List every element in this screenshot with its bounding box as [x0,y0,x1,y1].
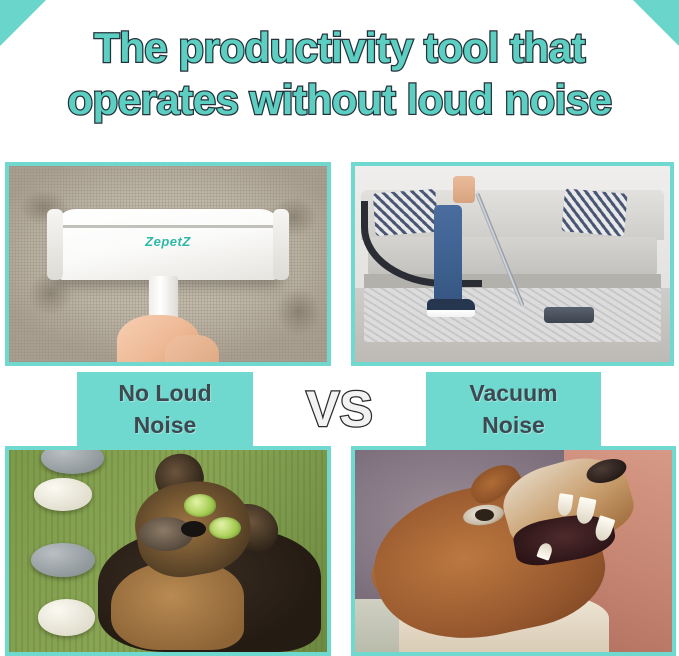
hand-finger [165,335,219,366]
photo-top-left-roller: ZepetZ [5,162,331,366]
roller-end-cap-right [273,209,289,280]
label-block-vacuum-noise: Vacuum Noise [426,372,601,446]
photo-bottom-right-barking-dog [351,446,676,656]
photo-top-right-vacuum [351,162,674,366]
spa-stone [31,543,95,577]
carpet-smudge [276,288,321,335]
cucumber-slice [209,517,241,539]
roller-handle-neck [149,276,178,319]
roller-body: ZepetZ [54,209,283,280]
person-arm [453,176,475,203]
floor-rug [364,288,660,343]
product-brand-label: ZepetZ [54,234,283,249]
dog-nose [181,521,206,537]
label-no-loud-noise-line-2: Noise [134,409,197,441]
vacuum-floor-head [544,307,594,323]
roller-seam [57,225,280,228]
roller-end-cap-left [47,209,63,280]
person-sneaker [427,299,474,317]
label-vacuum-noise-line-2: Noise [482,409,545,441]
barking-dog-pupil [475,509,494,521]
label-no-loud-noise-line-1: No Loud [118,377,211,409]
spa-stone [34,478,91,510]
cucumber-slice [184,494,216,516]
page-title-line-2: operates without loud noise [0,74,679,126]
spa-stone [38,599,95,635]
couch-pillow [561,189,628,237]
person-leg-jeans [434,205,462,307]
photo-bottom-left-relaxed-dog [5,446,331,656]
page-title-line-1: The productivity tool that [0,22,679,74]
infographic-canvas: The productivity tool that operates with… [0,0,679,656]
label-vacuum-noise-line-1: Vacuum [469,377,557,409]
vs-label: VS [253,370,426,448]
page-title: The productivity tool that operates with… [0,22,679,126]
label-block-no-loud-noise: No Loud Noise [77,372,253,446]
